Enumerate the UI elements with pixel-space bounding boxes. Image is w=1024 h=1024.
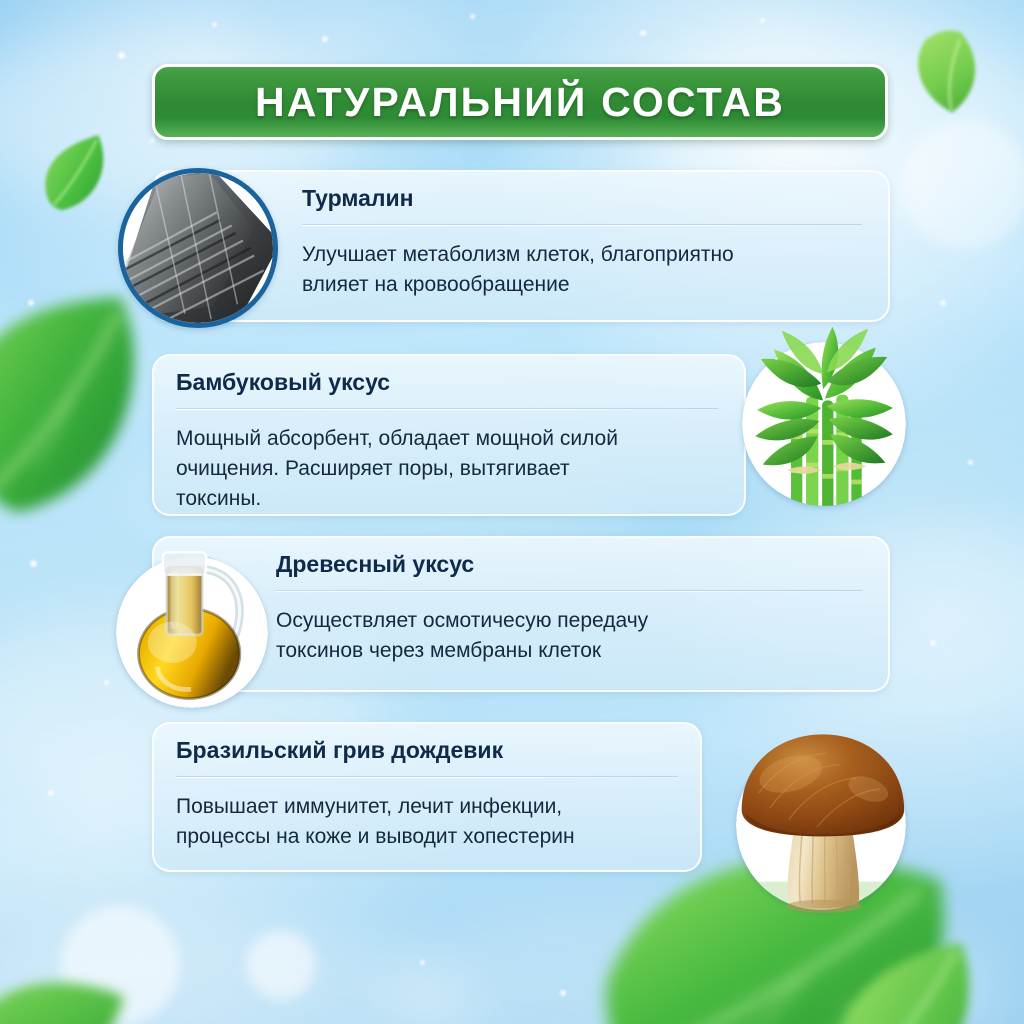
card-divider — [176, 408, 718, 410]
tourmaline-crystal-image — [118, 168, 278, 328]
mushroom-circle-clip — [736, 740, 906, 910]
ingredient-card-brazilian-mushroom: Бразильский грив дождевик Повышает иммун… — [152, 722, 702, 872]
card-description: Осуществляет осмотичесую передачу токсин… — [276, 606, 862, 666]
card-divider — [276, 590, 862, 592]
card-description: Мощный абсорбент, обладает мощной силой … — [176, 424, 718, 513]
bamboo-circle-clip — [742, 342, 906, 506]
card-title: Бамбуковый уксус — [176, 370, 718, 408]
card-divider — [302, 224, 862, 226]
infographic-poster: НАТУРАЛЬНИЙ СОСТАВ Турмалин Улучшает мет… — [0, 0, 1024, 1024]
leaf-top-right-icon — [888, 14, 1005, 126]
card-description: Улучшает метаболизм клеток, благоприятно… — [302, 240, 862, 300]
mushroom-image — [736, 740, 906, 910]
card-description: Повышает иммунитет, лечит инфекции, проц… — [176, 792, 678, 852]
card-title: Бразильский грив дождевик — [176, 738, 678, 776]
header-banner: НАТУРАЛЬНИЙ СОСТАВ — [152, 64, 888, 140]
carafe-circle-clip — [116, 556, 268, 708]
oil-carafe-image — [116, 556, 268, 708]
leaf-bottom-right-small-icon — [800, 931, 1019, 1024]
card-divider — [176, 776, 678, 778]
ingredient-card-bamboo-vinegar: Бамбуковый уксус Мощный абсорбент, облад… — [152, 354, 746, 516]
page-title: НАТУРАЛЬНИЙ СОСТАВ — [255, 79, 785, 126]
card-title: Турмалин — [302, 186, 862, 224]
bamboo-stalks-image — [742, 342, 906, 506]
leaf-bottom-left-icon — [0, 961, 131, 1024]
leaf-top-left-icon — [29, 130, 125, 221]
card-title: Древесный уксус — [276, 552, 862, 590]
tourmaline-crystal-icon — [123, 173, 273, 323]
